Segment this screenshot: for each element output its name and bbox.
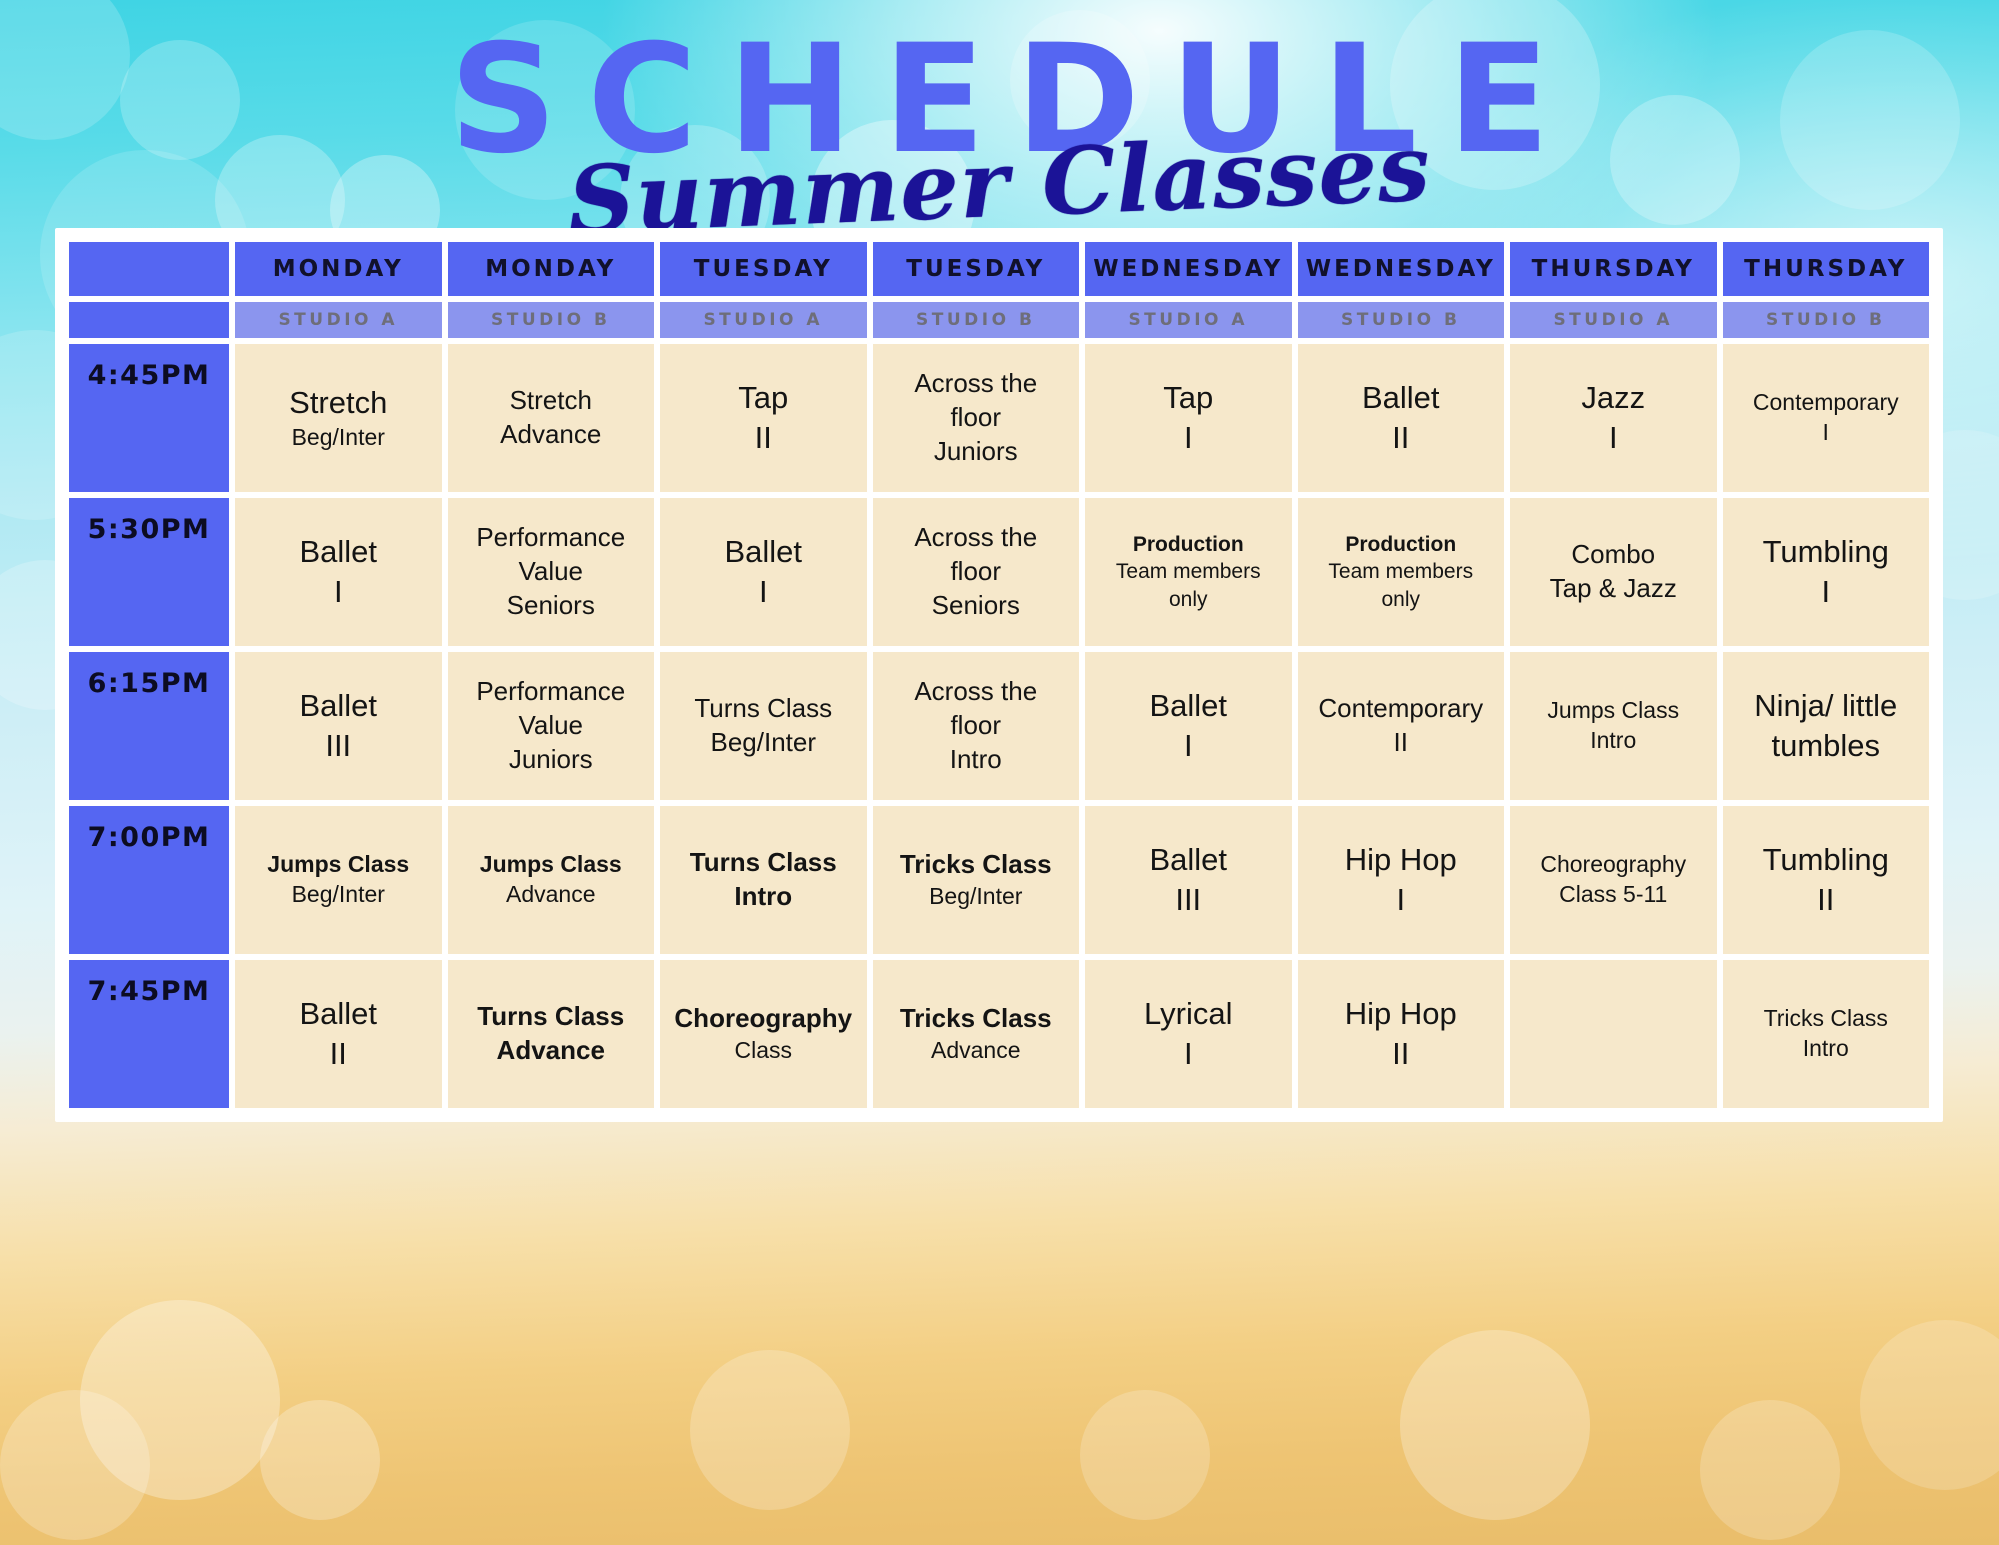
corner-cell <box>69 242 229 296</box>
class-cell-line: Ballet <box>666 532 861 572</box>
class-cell-line: Class 5-11 <box>1516 880 1711 910</box>
class-cell-line: II <box>241 1034 436 1074</box>
class-cell-line: Ninja/ little <box>1729 686 1924 726</box>
day-header-row: MONDAY MONDAY TUESDAY TUESDAY WEDNESDAY … <box>69 242 1929 296</box>
class-cell-line: Advance <box>454 418 649 452</box>
class-cell-line: Advance <box>454 1034 649 1068</box>
studio-header-5: STUDIO B <box>1298 302 1505 338</box>
table-row: 5:30PMBalletIPerformanceValueSeniorsBall… <box>69 498 1929 646</box>
class-cell-line: Production <box>1091 531 1286 558</box>
day-header-3: TUESDAY <box>873 242 1080 296</box>
class-cell-line: Ballet <box>241 532 436 572</box>
studio-header-0: STUDIO A <box>235 302 442 338</box>
class-cell-r1-c5[interactable]: ProductionTeam membersonly <box>1298 498 1505 646</box>
schedule-table-container: MONDAY MONDAY TUESDAY TUESDAY WEDNESDAY … <box>55 228 1943 1122</box>
day-header-5: WEDNESDAY <box>1298 242 1505 296</box>
class-cell-line: Ballet <box>1304 378 1499 418</box>
class-cell-line: Turns Class <box>666 846 861 880</box>
class-cell-line: I <box>241 572 436 612</box>
class-cell-line: III <box>1091 880 1286 920</box>
class-cell-line: Ballet <box>241 686 436 726</box>
class-cell-line: Class <box>666 1036 861 1066</box>
class-cell-line: Ballet <box>1091 840 1286 880</box>
class-cell-line: Beg/Inter <box>241 880 436 910</box>
time-label-1: 5:30PM <box>69 498 229 646</box>
class-cell-line: Juniors <box>454 743 649 777</box>
class-cell-line: Seniors <box>879 589 1074 623</box>
class-cell-r3-c2[interactable]: Turns ClassIntro <box>660 806 867 954</box>
class-cell-line: Stretch <box>454 384 649 418</box>
class-cell-line: Ballet <box>241 994 436 1034</box>
table-row: 7:45PMBalletIITurns ClassAdvanceChoreogr… <box>69 960 1929 1108</box>
class-cell-r4-c5[interactable]: Hip HopII <box>1298 960 1505 1108</box>
bokeh-circle <box>260 1400 380 1520</box>
class-cell-line: Hip Hop <box>1304 994 1499 1034</box>
class-cell-line: Jumps Class <box>1516 696 1711 726</box>
class-cell-line: Stretch <box>241 383 436 423</box>
class-cell-line: I <box>1091 726 1286 766</box>
class-cell-r1-c2[interactable]: BalletI <box>660 498 867 646</box>
class-cell-line: Tumbling <box>1729 840 1924 880</box>
class-cell-r4-c1[interactable]: Turns ClassAdvance <box>448 960 655 1108</box>
class-cell-line: Intro <box>879 743 1074 777</box>
class-cell-line: Beg/Inter <box>666 726 861 760</box>
table-row: 7:00PMJumps ClassBeg/InterJumps ClassAdv… <box>69 806 1929 954</box>
class-cell-line: II <box>666 418 861 458</box>
class-cell-r1-c6[interactable]: ComboTap & Jazz <box>1510 498 1717 646</box>
time-label-3: 7:00PM <box>69 806 229 954</box>
class-cell-r3-c6[interactable]: ChoreographyClass 5-11 <box>1510 806 1717 954</box>
class-cell-line: Contemporary <box>1304 692 1499 726</box>
class-cell-line: I <box>666 572 861 612</box>
class-cell-r4-c6[interactable] <box>1510 960 1717 1108</box>
class-cell-line: II <box>1304 1034 1499 1074</box>
studio-header-2: STUDIO A <box>660 302 867 338</box>
class-cell-r3-c4[interactable]: BalletIII <box>1085 806 1292 954</box>
class-cell-line: floor <box>879 401 1074 435</box>
class-cell-line: Tap & Jazz <box>1516 572 1711 606</box>
class-cell-line: Performance <box>454 675 649 709</box>
class-cell-line: II <box>1304 418 1499 458</box>
class-cell-line: Tap <box>666 378 861 418</box>
class-cell-line: I <box>1516 418 1711 458</box>
class-cell-line: Tricks Class <box>1729 1004 1924 1034</box>
class-cell-r4-c4[interactable]: LyricalI <box>1085 960 1292 1108</box>
class-cell-r4-c7[interactable]: Tricks ClassIntro <box>1723 960 1930 1108</box>
class-cell-line: Tricks Class <box>879 1002 1074 1036</box>
class-cell-r3-c3[interactable]: Tricks ClassBeg/Inter <box>873 806 1080 954</box>
class-cell-line: Lyrical <box>1091 994 1286 1034</box>
class-cell-r0-c4[interactable]: TapI <box>1085 344 1292 492</box>
studio-header-4: STUDIO A <box>1085 302 1292 338</box>
class-cell-line: Contemporary <box>1729 388 1924 418</box>
class-cell-line: Advance <box>879 1036 1074 1066</box>
class-cell-r0-c6[interactable]: JazzI <box>1510 344 1717 492</box>
bokeh-circle <box>80 1300 280 1500</box>
class-cell-line: Performance <box>454 521 649 555</box>
class-cell-line: III <box>241 726 436 766</box>
class-cell-line: Intro <box>1516 726 1711 756</box>
bokeh-circle <box>1860 1320 1999 1490</box>
class-cell-line: Ballet <box>1091 686 1286 726</box>
class-cell-r0-c0[interactable]: StretchBeg/Inter <box>235 344 442 492</box>
class-cell-line: Turns Class <box>454 1000 649 1034</box>
class-cell-line: II <box>1729 880 1924 920</box>
bokeh-circle <box>0 1390 150 1540</box>
class-cell-line: I <box>1091 418 1286 458</box>
class-cell-line: II <box>1304 726 1499 760</box>
class-cell-line: Production <box>1304 531 1499 558</box>
class-cell-r2-c6[interactable]: Jumps ClassIntro <box>1510 652 1717 800</box>
day-header-1: MONDAY <box>448 242 655 296</box>
class-cell-r0-c5[interactable]: BalletII <box>1298 344 1505 492</box>
class-cell-r0-c7[interactable]: ContemporaryI <box>1723 344 1930 492</box>
class-cell-line: floor <box>879 555 1074 589</box>
class-cell-r0-c1[interactable]: StretchAdvance <box>448 344 655 492</box>
class-cell-line: Team members <box>1304 558 1499 585</box>
class-cell-line: Team members <box>1091 558 1286 585</box>
class-cell-line: Seniors <box>454 589 649 623</box>
class-cell-r3-c7[interactable]: TumblingII <box>1723 806 1930 954</box>
bokeh-circle <box>1080 1390 1210 1520</box>
class-cell-r3-c0[interactable]: Jumps ClassBeg/Inter <box>235 806 442 954</box>
studio-header-6: STUDIO A <box>1510 302 1717 338</box>
time-label-2: 6:15PM <box>69 652 229 800</box>
class-cell-r4-c0[interactable]: BalletII <box>235 960 442 1108</box>
class-cell-line: Value <box>454 709 649 743</box>
class-cell-line: Advance <box>454 880 649 910</box>
class-cell-line: Tricks Class <box>879 848 1074 882</box>
class-cell-line: I <box>1729 572 1924 612</box>
class-cell-line: Intro <box>666 880 861 914</box>
class-cell-line: Jazz <box>1516 378 1711 418</box>
class-cell-line: Jumps Class <box>454 850 649 880</box>
day-header-4: WEDNESDAY <box>1085 242 1292 296</box>
class-cell-r3-c5[interactable]: Hip HopI <box>1298 806 1505 954</box>
studio-corner-cell <box>69 302 229 338</box>
class-cell-r1-c1[interactable]: PerformanceValueSeniors <box>448 498 655 646</box>
class-cell-line: Value <box>454 555 649 589</box>
class-cell-r4-c2[interactable]: ChoreographyClass <box>660 960 867 1108</box>
class-cell-line: Tap <box>1091 378 1286 418</box>
class-cell-r4-c3[interactable]: Tricks ClassAdvance <box>873 960 1080 1108</box>
class-cell-r2-c7[interactable]: Ninja/ littletumbles <box>1723 652 1930 800</box>
class-cell-line: tumbles <box>1729 726 1924 766</box>
day-header-0: MONDAY <box>235 242 442 296</box>
class-cell-line: Juniors <box>879 435 1074 469</box>
studio-header-1: STUDIO B <box>448 302 655 338</box>
bokeh-circle <box>1700 1400 1840 1540</box>
class-cell-line: Across the <box>879 675 1074 709</box>
class-cell-r2-c1[interactable]: PerformanceValueJuniors <box>448 652 655 800</box>
class-cell-line: I <box>1729 418 1924 448</box>
day-header-7: THURSDAY <box>1723 242 1930 296</box>
class-cell-line: Combo <box>1516 538 1711 572</box>
class-cell-r1-c0[interactable]: BalletI <box>235 498 442 646</box>
class-cell-r1-c3[interactable]: Across thefloorSeniors <box>873 498 1080 646</box>
class-cell-line: Choreography <box>666 1002 861 1036</box>
class-cell-line: floor <box>879 709 1074 743</box>
table-row: 4:45PMStretchBeg/InterStretchAdvanceTapI… <box>69 344 1929 492</box>
schedule-poster: SCHEDULE Summer Classes MONDAY MONDAY TU… <box>0 0 1999 1545</box>
class-cell-r2-c2[interactable]: Turns ClassBeg/Inter <box>660 652 867 800</box>
studio-header-row: STUDIO A STUDIO B STUDIO A STUDIO B STUD… <box>69 302 1929 338</box>
class-cell-line: Choreography <box>1516 850 1711 880</box>
class-cell-line: Across the <box>879 521 1074 555</box>
class-cell-line: only <box>1091 586 1286 613</box>
table-row: 6:15PMBalletIIIPerformanceValueJuniorsTu… <box>69 652 1929 800</box>
table-body: 4:45PMStretchBeg/InterStretchAdvanceTapI… <box>69 344 1929 1108</box>
schedule-table: MONDAY MONDAY TUESDAY TUESDAY WEDNESDAY … <box>63 236 1935 1114</box>
time-label-4: 7:45PM <box>69 960 229 1108</box>
table-header: MONDAY MONDAY TUESDAY TUESDAY WEDNESDAY … <box>69 242 1929 338</box>
studio-header-7: STUDIO B <box>1723 302 1930 338</box>
class-cell-line: only <box>1304 586 1499 613</box>
time-label-0: 4:45PM <box>69 344 229 492</box>
class-cell-line: Jumps Class <box>241 850 436 880</box>
class-cell-r2-c5[interactable]: ContemporaryII <box>1298 652 1505 800</box>
class-cell-line: Beg/Inter <box>241 423 436 453</box>
class-cell-line: Intro <box>1729 1034 1924 1064</box>
class-cell-line: I <box>1091 1034 1286 1074</box>
class-cell-line: Beg/Inter <box>879 882 1074 912</box>
day-header-2: TUESDAY <box>660 242 867 296</box>
class-cell-line: Hip Hop <box>1304 840 1499 880</box>
class-cell-line: I <box>1304 880 1499 920</box>
day-header-6: THURSDAY <box>1510 242 1717 296</box>
class-cell-r1-c7[interactable]: TumblingI <box>1723 498 1930 646</box>
class-cell-line: Across the <box>879 367 1074 401</box>
class-cell-r1-c4[interactable]: ProductionTeam membersonly <box>1085 498 1292 646</box>
class-cell-line: Tumbling <box>1729 532 1924 572</box>
class-cell-r2-c0[interactable]: BalletIII <box>235 652 442 800</box>
bokeh-circle <box>690 1350 850 1510</box>
class-cell-r3-c1[interactable]: Jumps ClassAdvance <box>448 806 655 954</box>
bokeh-circle <box>1400 1330 1590 1520</box>
class-cell-r2-c4[interactable]: BalletI <box>1085 652 1292 800</box>
studio-header-3: STUDIO B <box>873 302 1080 338</box>
class-cell-r2-c3[interactable]: Across thefloorIntro <box>873 652 1080 800</box>
class-cell-r0-c3[interactable]: Across thefloorJuniors <box>873 344 1080 492</box>
class-cell-line: Turns Class <box>666 692 861 726</box>
class-cell-r0-c2[interactable]: TapII <box>660 344 867 492</box>
